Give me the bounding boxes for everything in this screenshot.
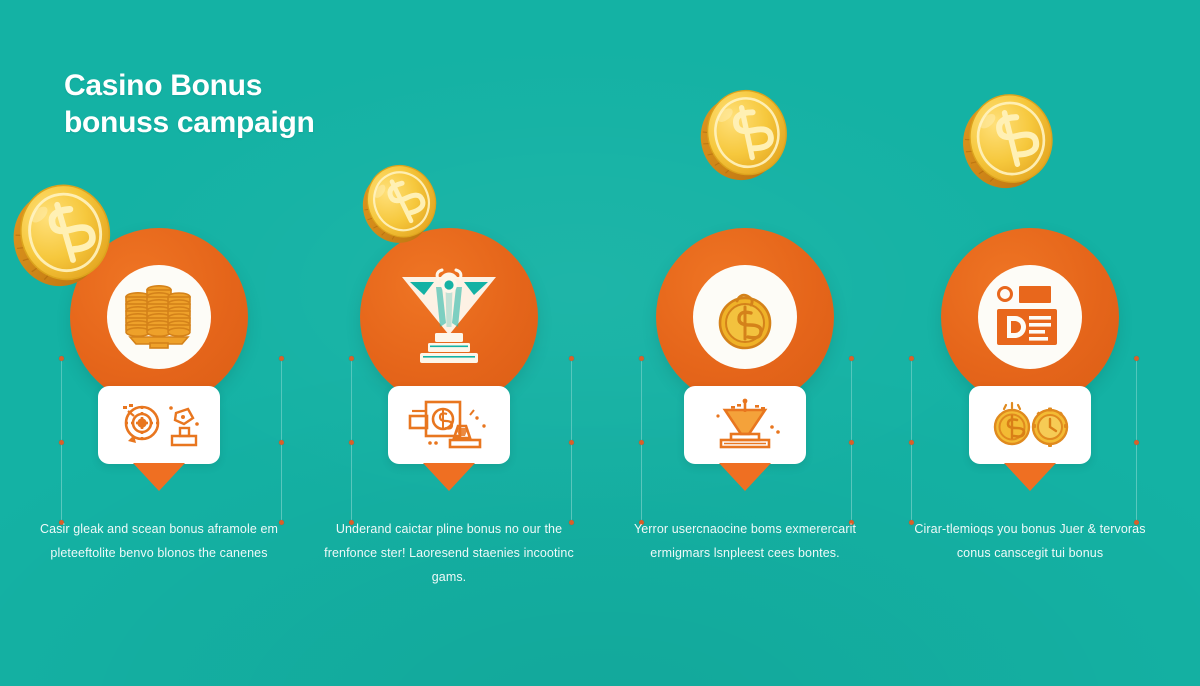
callout-tail-3 <box>719 463 771 491</box>
callout-tail-2 <box>423 463 475 491</box>
column-2: Underand caictar pline bonus no our the … <box>304 0 594 686</box>
callout-tail-4 <box>1004 463 1056 491</box>
callout-card-4[interactable] <box>969 386 1091 464</box>
gold-dollar-coin-icon <box>687 75 803 191</box>
callout-card-3[interactable] <box>684 386 806 464</box>
badge-circle-3[interactable] <box>656 228 834 406</box>
roulette-wheel-icon <box>114 397 204 453</box>
id-card-icon <box>989 280 1071 354</box>
dollar-coin-icon <box>709 279 781 355</box>
badge-inner-disc-4 <box>978 265 1082 369</box>
coin-stacks-icon <box>120 281 198 353</box>
callout-tail-1 <box>133 463 185 491</box>
callout-card-2[interactable] <box>388 386 510 464</box>
body-text-4: Cirar-tlemioqs you bonus Juer & tervoras… <box>885 518 1175 566</box>
body-text-2: Underand caictar pline bonus no our the … <box>304 518 594 589</box>
trophy-cup-icon <box>701 396 789 454</box>
badge-inner-disc-2 <box>390 258 508 376</box>
badge-circle-4[interactable] <box>941 228 1119 406</box>
badge-inner-disc-3 <box>693 265 797 369</box>
body-text-1: Casir gleak and scean bonus aframole em … <box>14 518 304 566</box>
infographic-canvas: Casino Bonus bonuss campaign <box>0 0 1200 686</box>
body-text-3: Yerror usercnaocine boms exmerercarit er… <box>600 518 890 566</box>
money-document-icon <box>404 396 494 454</box>
column-1: Casir gleak and scean bonus aframole em … <box>14 0 304 686</box>
trophy-award-icon <box>390 261 508 373</box>
callout-card-1[interactable] <box>98 386 220 464</box>
badge-inner-disc-1 <box>107 265 211 369</box>
dollar-coin-and-clock-coin-icon <box>984 398 1076 452</box>
